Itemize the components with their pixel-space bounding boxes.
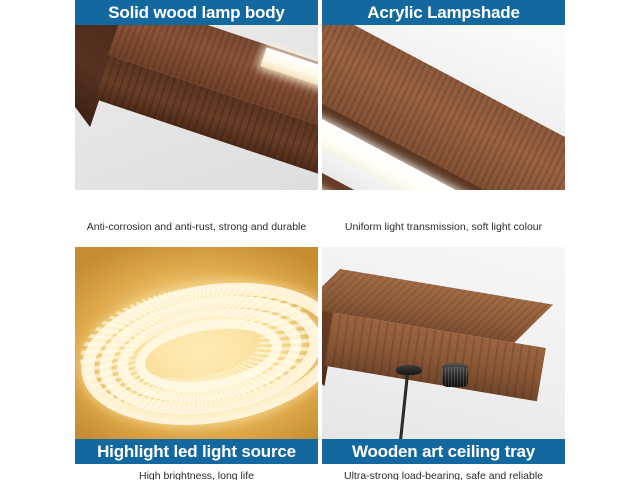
caption-subtitle: Anti-corrosion and anti-rust, strong and… bbox=[75, 222, 318, 233]
feature-grid: Solid wood lamp body Anti-corrosion and … bbox=[75, 0, 565, 480]
row-gap-right bbox=[322, 238, 565, 247]
caption-title: Wooden art ceiling tray bbox=[352, 443, 535, 460]
caption-bar-highlight-led-light-source: Highlight led light source bbox=[75, 439, 318, 464]
row-gap-left bbox=[75, 238, 318, 247]
caption-subtitle: Ultra-strong load-bearing, safe and reli… bbox=[322, 471, 565, 480]
caption-subtitle: Uniform light transmission, soft light c… bbox=[322, 222, 565, 233]
panel-photo-solid-wood-lamp-body bbox=[75, 0, 318, 190]
caption-bar-solid-wood-lamp-body: Solid wood lamp body bbox=[75, 0, 318, 25]
caption-bar-acrylic-lampshade: Acrylic Lampshade bbox=[322, 0, 565, 25]
panel-highlight-led-light-source: Highlight led light source High brightne… bbox=[75, 247, 318, 480]
caption-title: Solid wood lamp body bbox=[108, 4, 284, 21]
caption-subtitle: High brightness, long life bbox=[75, 471, 318, 480]
panel-photo-acrylic-lampshade bbox=[322, 0, 565, 190]
caption-title: Highlight led light source bbox=[97, 443, 296, 460]
panel-photo-wooden-art-ceiling-tray bbox=[322, 247, 565, 439]
panel-wooden-art-ceiling-tray: Wooden art ceiling tray Ultra-strong loa… bbox=[322, 247, 565, 480]
panel-solid-wood-lamp-body: Solid wood lamp body Anti-corrosion and … bbox=[75, 0, 318, 238]
panel-acrylic-lampshade: Acrylic Lampshade Uniform light transmis… bbox=[322, 0, 565, 238]
caption-title: Acrylic Lampshade bbox=[367, 4, 520, 21]
cable-gland bbox=[396, 365, 422, 375]
feature-collage: Solid wood lamp body Anti-corrosion and … bbox=[75, 0, 565, 480]
knurled-knob bbox=[442, 367, 468, 387]
panel-photo-highlight-led-light-source bbox=[75, 247, 318, 439]
caption-bar-wooden-art-ceiling-tray: Wooden art ceiling tray bbox=[322, 439, 565, 464]
